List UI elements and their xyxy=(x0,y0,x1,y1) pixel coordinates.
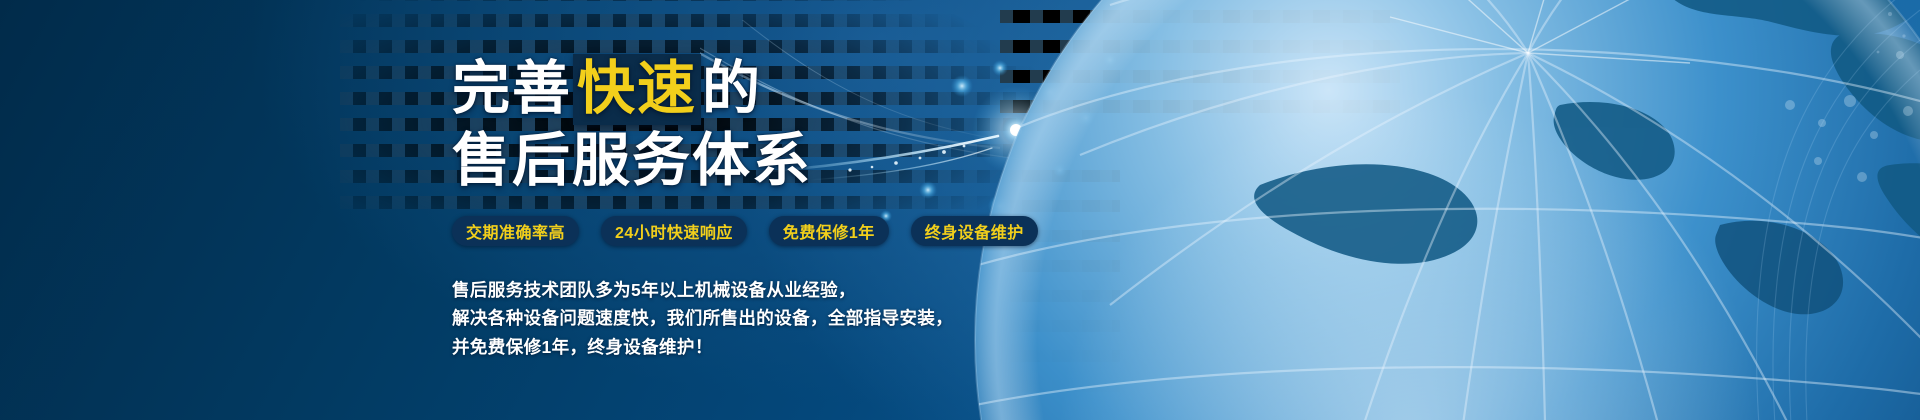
headline-line-1: 完善快速的 xyxy=(452,60,1212,118)
badge-lifetime-maintenance[interactable]: 终身设备维护 xyxy=(911,216,1038,246)
headline-line1-prefix: 完善 xyxy=(452,56,572,121)
headline-line1-suffix: 的 xyxy=(702,56,762,121)
page-title: 完善快速的 售后服务体系 xyxy=(452,60,1212,190)
badge-24h-response[interactable]: 24小时快速响应 xyxy=(601,216,747,246)
fiber-optic-arcs xyxy=(1560,0,1920,420)
headline-highlight: 快速 xyxy=(573,54,701,125)
service-promo-banner: 完善快速的 售后服务体系 交期准确率高 24小时快速响应 免费保修1年 终身设备… xyxy=(0,0,1920,420)
description-line-3: 并免费保修1年，终身设备维护！ xyxy=(452,333,1212,361)
feature-badge-list: 交期准确率高 24小时快速响应 免费保修1年 终身设备维护 xyxy=(452,216,1212,246)
badge-delivery-accuracy[interactable]: 交期准确率高 xyxy=(452,216,579,246)
description-text: 售后服务技术团队多为5年以上机械设备从业经验， 解决各种设备问题速度快，我们所售… xyxy=(452,276,1212,361)
badge-free-warranty[interactable]: 免费保修1年 xyxy=(769,216,889,246)
banner-content: 完善快速的 售后服务体系 交期准确率高 24小时快速响应 免费保修1年 终身设备… xyxy=(452,0,1212,420)
glow-blob-upper-right xyxy=(1330,0,1500,110)
description-line-2: 解决各种设备问题速度快，我们所售出的设备，全部指导安装， xyxy=(452,304,1212,332)
description-line-1: 售后服务技术团队多为5年以上机械设备从业经验， xyxy=(452,276,1212,304)
headline-line-2: 售后服务体系 xyxy=(452,132,1212,190)
